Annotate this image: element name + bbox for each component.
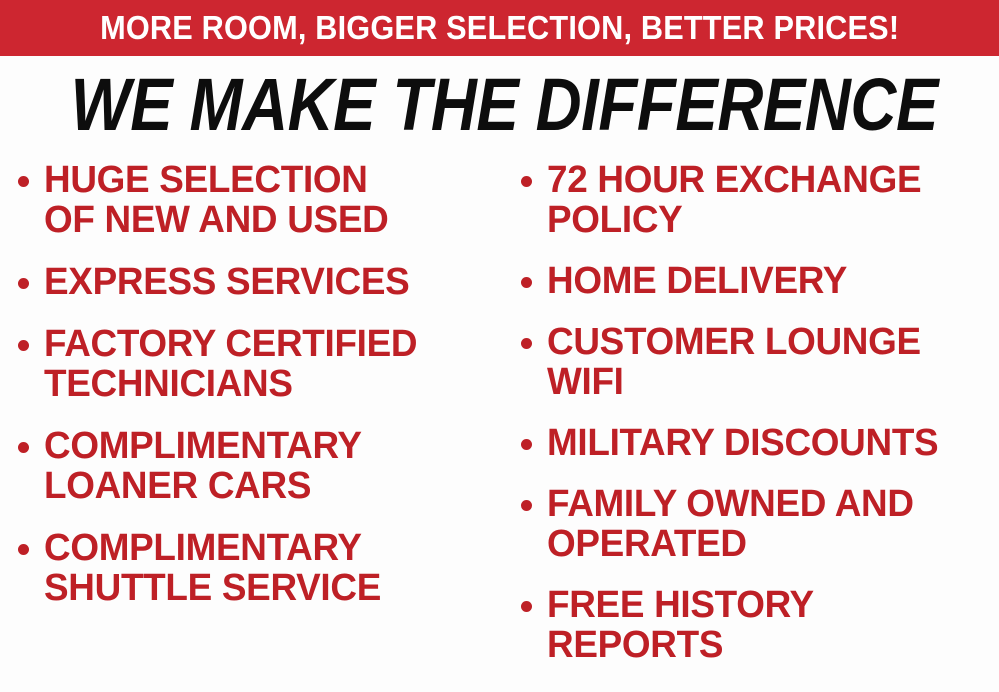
list-item-label: FAMILY OWNED AND OPERATED: [547, 484, 985, 564]
top-promo-strip: MORE ROOM, BIGGER SELECTION, BETTER PRIC…: [0, 0, 999, 56]
bullet-dot-icon: [521, 601, 532, 612]
list-item: FREE HISTORY REPORTS: [521, 585, 999, 665]
benefits-column-left: HUGE SELECTION OF NEW AND USED EXPRESS S…: [18, 160, 503, 630]
bullet-dot-icon: [521, 500, 532, 511]
list-item: HOME DELIVERY: [521, 261, 999, 301]
benefits-columns: HUGE SELECTION OF NEW AND USED EXPRESS S…: [0, 160, 999, 692]
dealership-promo-banner: MORE ROOM, BIGGER SELECTION, BETTER PRIC…: [0, 0, 999, 692]
bullet-dot-icon: [521, 338, 532, 349]
list-item-label: MILITARY DISCOUNTS: [547, 423, 985, 463]
bullet-dot-icon: [18, 278, 29, 289]
headline: WE MAKE THE DIFFERENCE: [0, 66, 999, 144]
bullet-dot-icon: [18, 340, 29, 351]
list-item: HUGE SELECTION OF NEW AND USED: [18, 160, 503, 240]
list-item: 72 HOUR EXCHANGE POLICY: [521, 160, 999, 240]
list-item-label: HOME DELIVERY: [547, 261, 985, 301]
top-promo-strip-text: MORE ROOM, BIGGER SELECTION, BETTER PRIC…: [100, 11, 899, 45]
bullet-dot-icon: [18, 442, 29, 453]
list-item-label: COMPLIMENTARY SHUTTLE SERVICE: [44, 528, 489, 608]
list-item-label: EXPRESS SERVICES: [44, 262, 489, 302]
list-item: EXPRESS SERVICES: [18, 262, 503, 302]
list-item-label: HUGE SELECTION OF NEW AND USED: [44, 160, 489, 240]
list-item: CUSTOMER LOUNGE WIFI: [521, 322, 999, 402]
bullet-dot-icon: [18, 544, 29, 555]
bullet-dot-icon: [521, 277, 532, 288]
list-item: COMPLIMENTARY LOANER CARS: [18, 426, 503, 506]
bullet-dot-icon: [18, 176, 29, 187]
list-item-label: CUSTOMER LOUNGE WIFI: [547, 322, 985, 402]
list-item: MILITARY DISCOUNTS: [521, 423, 999, 463]
list-item: FAMILY OWNED AND OPERATED: [521, 484, 999, 564]
bullet-dot-icon: [521, 439, 532, 450]
list-item: COMPLIMENTARY SHUTTLE SERVICE: [18, 528, 503, 608]
list-item: FACTORY CERTIFIED TECHNICIANS: [18, 324, 503, 404]
list-item-label: COMPLIMENTARY LOANER CARS: [44, 426, 489, 506]
list-item-label: FREE HISTORY REPORTS: [547, 585, 985, 665]
bullet-dot-icon: [521, 176, 532, 187]
benefits-column-right: 72 HOUR EXCHANGE POLICY HOME DELIVERY CU…: [521, 160, 999, 686]
list-item-label: 72 HOUR EXCHANGE POLICY: [547, 160, 985, 240]
list-item-label: FACTORY CERTIFIED TECHNICIANS: [44, 324, 489, 404]
headline-text: WE MAKE THE DIFFERENCE: [71, 66, 938, 144]
